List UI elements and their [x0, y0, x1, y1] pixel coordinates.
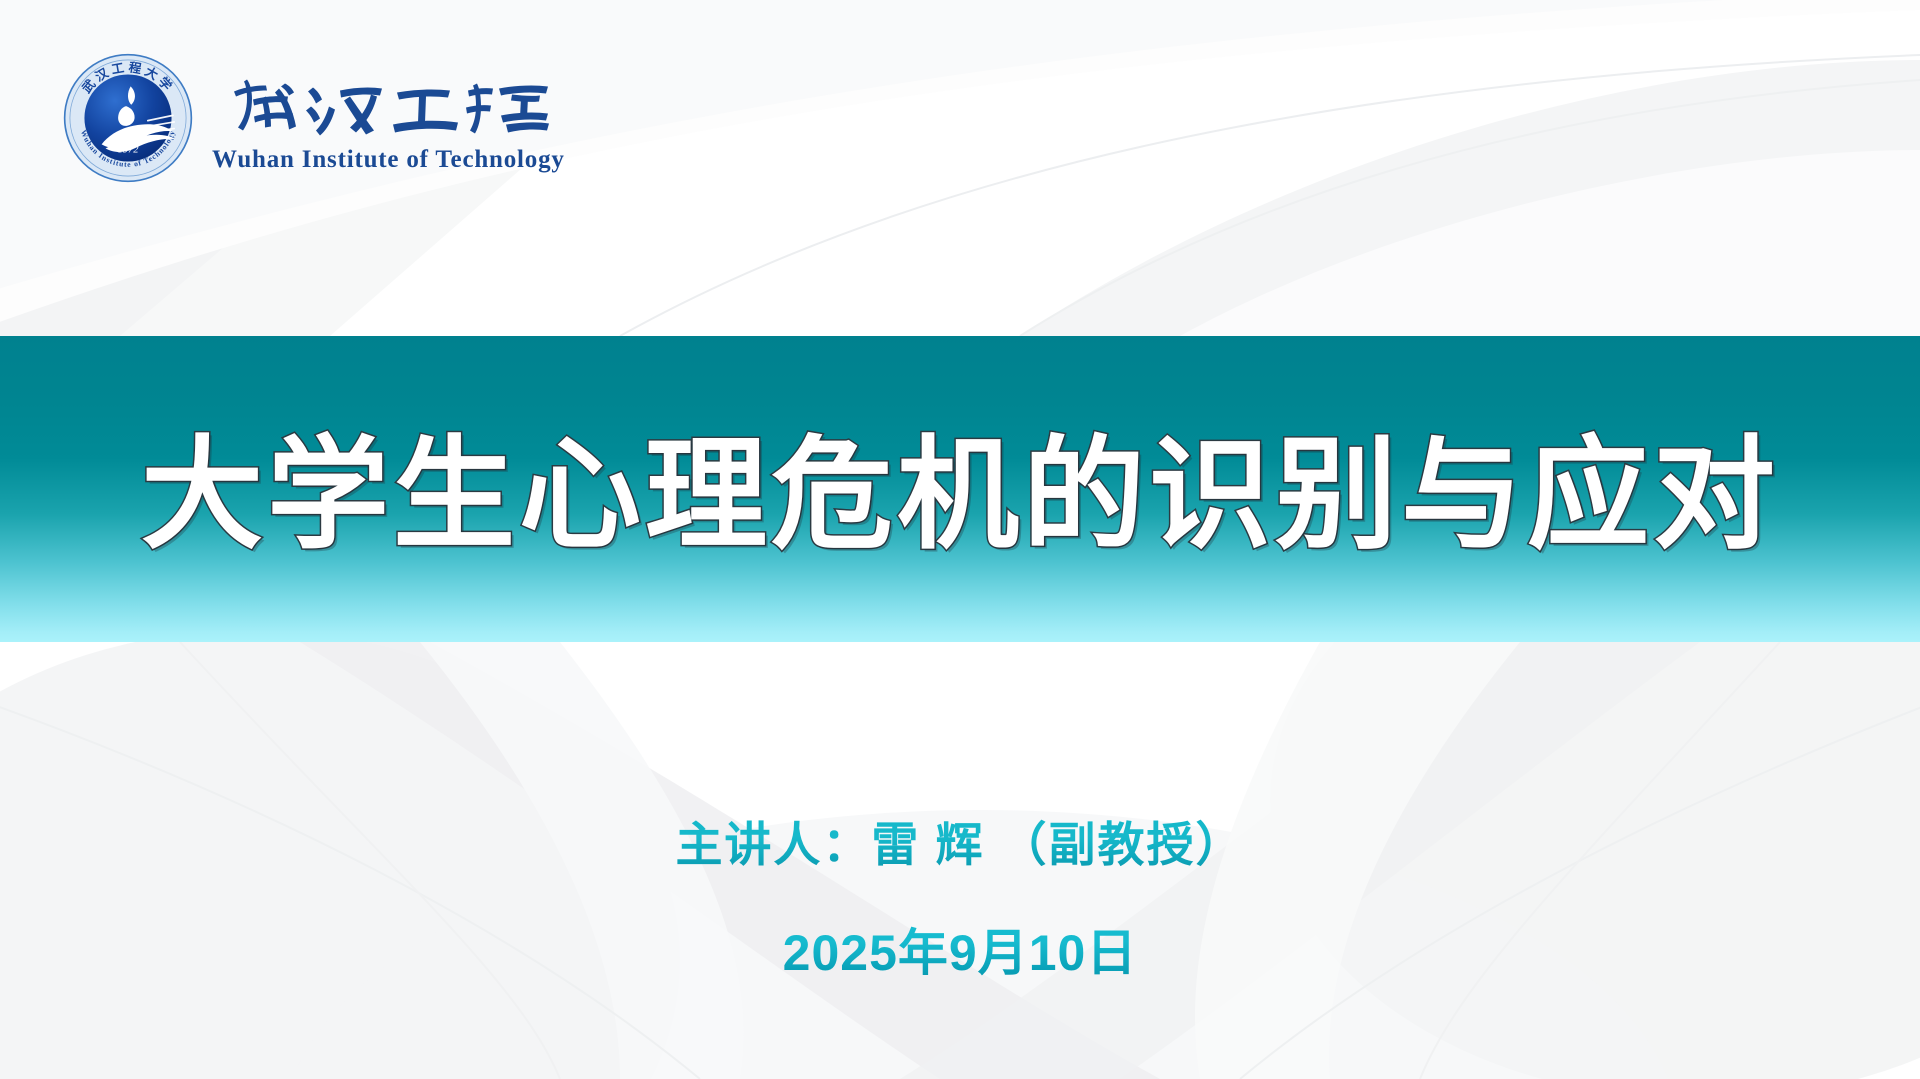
presenter-name: 主讲人：雷 辉 （副教授）	[0, 806, 1920, 875]
svg-text:1972: 1972	[117, 144, 139, 155]
title-slide: 武汉工程大学 Wuhan Institute of Technology 197…	[0, 0, 1920, 1079]
page-title: 大学生心理危机的识别与应对	[0, 431, 1920, 559]
logo-chinese-calligraphy-icon	[223, 68, 553, 144]
presenter-block: 主讲人：雷 辉 （副教授） 2025年9月10日	[0, 806, 1920, 985]
university-logo: 武汉工程大学 Wuhan Institute of Technology 197…	[62, 52, 565, 184]
logo-wordmark: Wuhan Institute of Technology	[212, 68, 565, 174]
logo-english-name: Wuhan Institute of Technology	[212, 146, 565, 174]
title-band: 大学生心理危机的识别与应对	[0, 336, 1920, 642]
university-seal-icon: 武汉工程大学 Wuhan Institute of Technology 197…	[62, 52, 194, 184]
presentation-date: 2025年9月10日	[0, 913, 1920, 985]
